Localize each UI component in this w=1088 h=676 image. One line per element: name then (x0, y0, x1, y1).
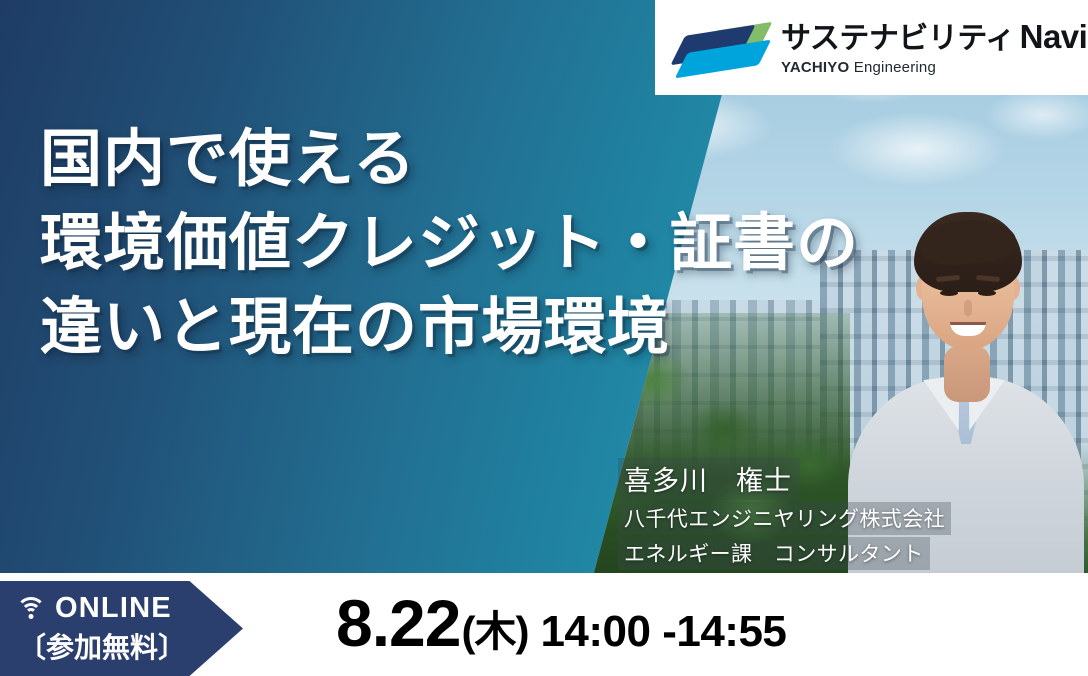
webinar-banner: 国内で使える 環境価値クレジット・証書の 違いと現在の市場環境 喜多川 権士 八… (0, 0, 1088, 676)
speaker-eye-left (940, 290, 958, 296)
event-date: 8.22 (336, 585, 460, 661)
company-name-bold: YACHIYO (781, 59, 849, 76)
title-line-1: 国内で使える (40, 118, 859, 202)
event-weekday: (木) (461, 598, 528, 659)
online-free-badge: ONLINE 〔参加無料〕 (0, 581, 243, 676)
title-line-2: 環境価値クレジット・証書の (40, 202, 859, 286)
brand-name-row: サステナビリティNavi (781, 19, 1087, 55)
event-time: 14:00 -14:55 (540, 607, 786, 657)
brand-logo-box: サステナビリティNavi YACHIYO Engineering (655, 0, 1088, 95)
speaker-info: 喜多川 権士 八千代エンジニヤリング株式会社 エネルギー課 コンサルタント (618, 458, 951, 570)
brand-logo-text: サステナビリティNavi YACHIYO Engineering (781, 19, 1087, 76)
speaker-neck (944, 346, 990, 402)
schedule-info: 8.22 (木) 14:00 -14:55 (336, 585, 786, 661)
brand-name-jp: サステナビリティ (781, 22, 1015, 55)
yachiyo-logo-mark-icon (677, 20, 767, 76)
speaker-eye-right (978, 290, 996, 296)
webinar-title: 国内で使える 環境価値クレジット・証書の 違いと現在の市場環境 (40, 118, 859, 370)
title-line-3: 違いと現在の市場環境 (40, 286, 859, 370)
speaker-role: エネルギー課 コンサルタント (618, 537, 930, 570)
online-label: ONLINE (55, 592, 172, 625)
online-row: ONLINE (16, 592, 172, 625)
speaker-name: 喜多川 権士 (618, 458, 800, 500)
brand-name-navi: Navi (1020, 18, 1088, 55)
free-entry-label: 〔参加無料〕 (18, 626, 186, 666)
speaker-company: 八千代エンジニヤリング株式会社 (618, 502, 951, 535)
company-name-rest: Engineering (854, 59, 936, 76)
footer-strip: ONLINE 〔参加無料〕 8.22 (木) 14:00 -14:55 (0, 573, 1088, 676)
speaker-nose (964, 300, 972, 316)
wifi-icon (16, 596, 46, 620)
company-name-row: YACHIYO Engineering (781, 59, 1087, 76)
